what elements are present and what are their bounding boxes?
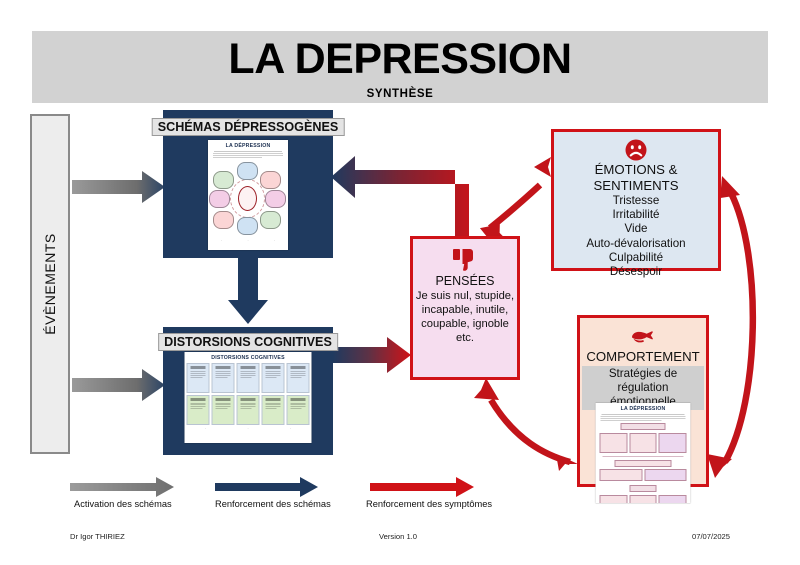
poster-behaviour-thumbnail: LA DÉPRESSION xyxy=(596,403,691,503)
arrow-events-to-schemas xyxy=(72,171,165,203)
sad-face-icon xyxy=(554,138,718,162)
arrowhead-to-behaviour-2 xyxy=(707,454,732,478)
poster-text-lines xyxy=(213,153,283,158)
box-emotions-item: Irritabilité xyxy=(554,208,718,222)
header-band: LA DEPRESSION SYNTHÈSE xyxy=(32,31,768,103)
poster-distortions-thumbnail: DISTORSIONS COGNITIVES ··· xyxy=(185,352,312,443)
legend-arrow-navy xyxy=(215,477,318,497)
events-label: ÉVÈNEMENTS xyxy=(42,233,58,334)
poster-behaviour-title: LA DÉPRESSION xyxy=(596,406,691,412)
poster-footer: ··· xyxy=(185,427,312,431)
poster-footer: ··· xyxy=(208,239,288,243)
poster-text-lines xyxy=(601,416,686,421)
poster-distortions-title: DISTORSIONS COGNITIVES xyxy=(185,355,312,361)
box-behaviour: COMPORTEMENT Stratégies de régulation ém… xyxy=(577,315,709,487)
box-behaviour-heading: COMPORTEMENT xyxy=(580,349,706,365)
footer-version: Version 1.0 xyxy=(379,532,417,541)
arrow-distortions-to-pensees xyxy=(333,337,411,373)
panel-schemas-caption: SCHÉMAS DÉPRESSOGÈNES xyxy=(152,118,345,136)
arrow-schemas-to-distortions xyxy=(228,256,268,324)
pointing-hand-icon xyxy=(580,325,706,349)
events-bar: ÉVÈNEMENTS xyxy=(30,114,70,454)
poster-schemas-thumbnail: LA DÉPRESSION ··· xyxy=(208,140,288,250)
arrowhead-to-behaviour xyxy=(556,454,578,471)
schemas-flower-diagram xyxy=(208,159,288,237)
box-emotions: ÉMOTIONS & SENTIMENTS Tristesse Irritabi… xyxy=(551,129,721,271)
legend-label-reinforcement-schemas: Renforcement des schémas xyxy=(215,499,331,509)
box-pensees-heading: PENSÉES xyxy=(413,273,517,289)
box-emotions-item: Vide xyxy=(554,222,718,236)
divider xyxy=(602,414,685,415)
behaviour-flowchart xyxy=(600,423,687,503)
box-emotions-item: Auto-dévalorisation xyxy=(554,237,718,251)
divider xyxy=(214,151,282,152)
legend-label-activation: Activation des schémas xyxy=(74,499,172,509)
page-title: LA DEPRESSION xyxy=(32,33,768,85)
arrow-events-to-distortions xyxy=(72,369,165,401)
box-emotions-item: Culpabilité xyxy=(554,251,718,265)
panel-schemas: SCHÉMAS DÉPRESSOGÈNES LA DÉPRESSION ··· xyxy=(163,110,333,258)
arrow-emotions-behaviour xyxy=(725,193,753,462)
arrow-pensees-emotions xyxy=(490,185,540,228)
arrow-pensees-behaviour xyxy=(491,400,570,462)
arrowhead-to-emotions xyxy=(534,157,551,177)
thumbs-down-icon xyxy=(413,247,517,273)
arrowhead-to-pensees-2 xyxy=(474,378,499,400)
legend-arrow-red xyxy=(370,477,474,497)
box-pensees: PENSÉES Je suis nul, stupide, incapable,… xyxy=(410,236,520,380)
poster-schemas-title: LA DÉPRESSION xyxy=(208,143,288,149)
panel-distortions: DISTORSIONS COGNITIVES DISTORSIONS COGNI… xyxy=(163,327,333,455)
panel-distortions-caption: DISTORSIONS COGNITIVES xyxy=(158,333,338,351)
footer-author: Dr Igor THIRIEZ xyxy=(70,532,125,541)
box-emotions-item: Tristesse xyxy=(554,194,718,208)
page-subtitle: SYNTHÈSE xyxy=(32,88,768,100)
legend-label-reinforcement-symptoms: Renforcement des symptômes xyxy=(366,499,492,509)
box-emotions-heading: ÉMOTIONS & SENTIMENTS xyxy=(554,162,718,194)
footer-date: 07/07/2025 xyxy=(692,532,730,541)
distortions-grid xyxy=(187,363,310,425)
infographic-canvas: LA DEPRESSION SYNTHÈSE ÉVÈNEMENTS xyxy=(0,0,800,565)
box-emotions-item: Désespoir xyxy=(554,265,718,279)
legend-arrow-gray xyxy=(70,477,174,497)
box-pensees-body: Je suis nul, stupide, incapable, inutile… xyxy=(413,289,517,345)
